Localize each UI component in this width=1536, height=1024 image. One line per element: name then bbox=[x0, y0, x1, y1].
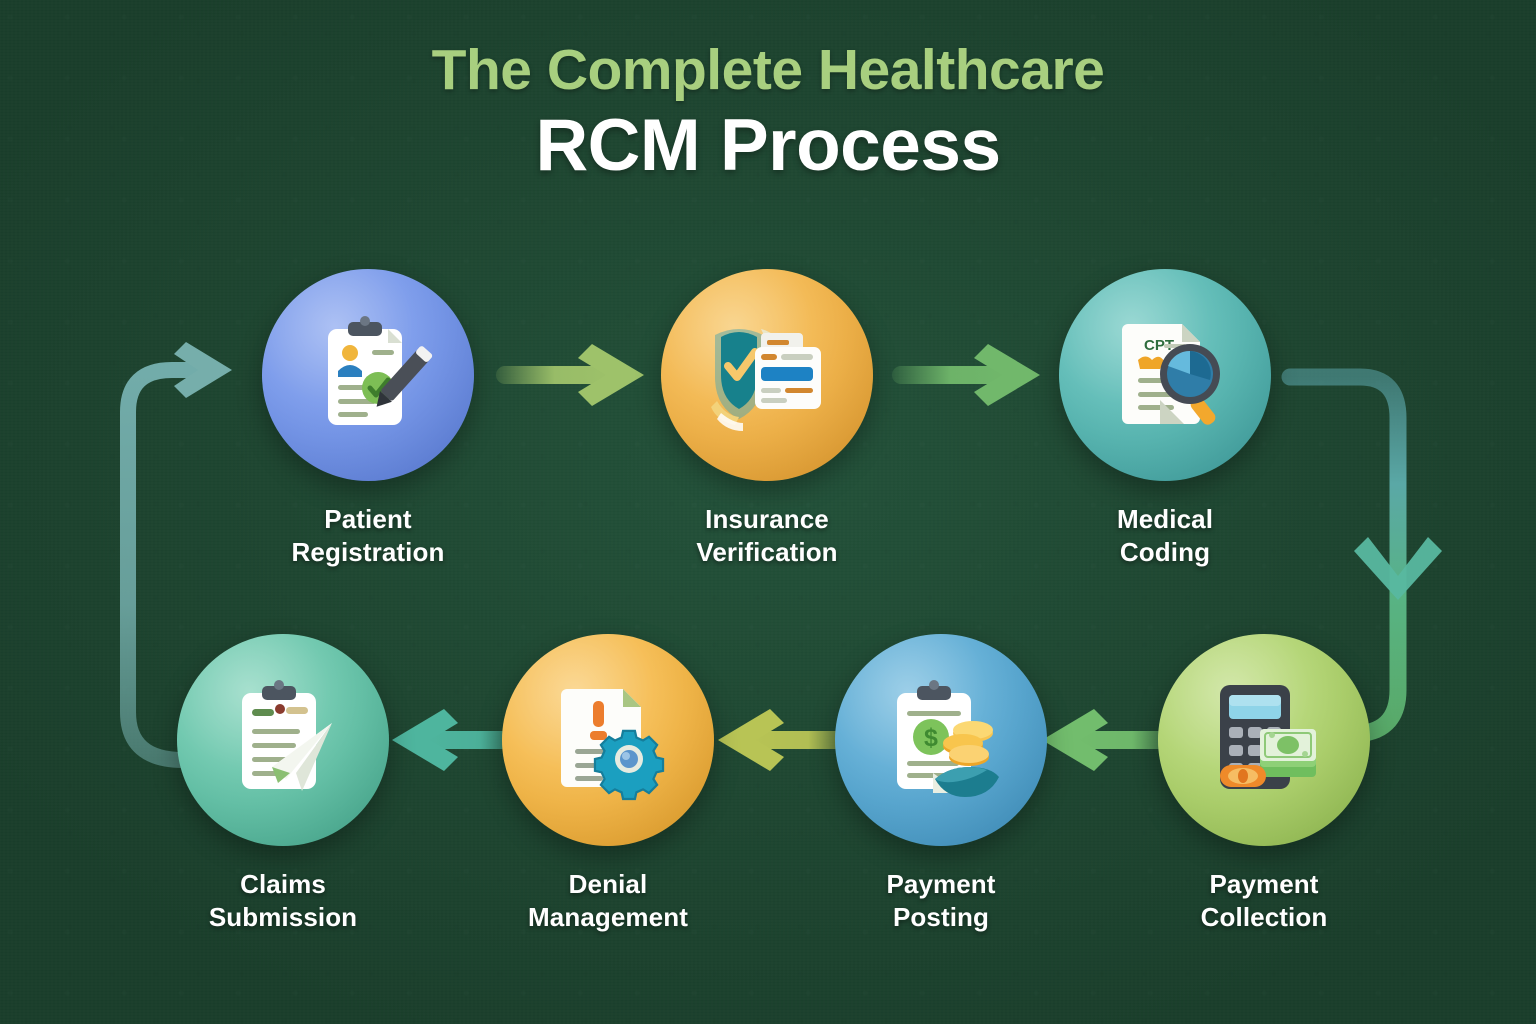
step-label: Payment Collection bbox=[1158, 868, 1370, 934]
step-node-medical-coding[interactable]: CPT Medical Coding bbox=[1059, 269, 1271, 569]
step-circle bbox=[661, 269, 873, 481]
clipboard-person-pencil-icon bbox=[302, 309, 434, 441]
step-circle: CPT bbox=[1059, 269, 1271, 481]
step-node-patient-registration[interactable]: Patient Registration bbox=[262, 269, 474, 569]
shield-check-card-icon bbox=[699, 309, 835, 441]
step-node-payment-posting[interactable]: $ Payment Posting bbox=[835, 634, 1047, 934]
step-node-payment-collection[interactable]: Payment Collection bbox=[1158, 634, 1370, 934]
step-node-denial-management[interactable]: Denial Management bbox=[502, 634, 714, 934]
calculator-cash-icon bbox=[1196, 673, 1332, 807]
step-label: Denial Management bbox=[502, 868, 714, 934]
svg-text:$: $ bbox=[924, 724, 938, 752]
step-circle bbox=[262, 269, 474, 481]
document-alert-gear-icon bbox=[541, 673, 675, 807]
connector-arrow-1-to-2 bbox=[496, 344, 644, 406]
step-label: Patient Registration bbox=[262, 503, 474, 569]
step-label: Payment Posting bbox=[835, 868, 1047, 934]
step-node-insurance-verification[interactable]: Insurance Verification bbox=[661, 269, 873, 569]
step-circle bbox=[177, 634, 389, 846]
step-circle bbox=[502, 634, 714, 846]
step-label: Insurance Verification bbox=[661, 503, 873, 569]
step-node-claims-submission[interactable]: Claims Submission bbox=[177, 634, 389, 934]
clipboard-paper-plane-icon bbox=[216, 673, 350, 807]
step-label: Claims Submission bbox=[177, 868, 389, 934]
connector-arrow-2-to-3 bbox=[892, 344, 1040, 406]
step-label: Medical Coding bbox=[1059, 503, 1271, 569]
document-magnifier-icon: CPT bbox=[1098, 308, 1232, 442]
infographic-canvas: The Complete Healthcare RCM Process bbox=[0, 0, 1536, 1024]
step-circle: $ bbox=[835, 634, 1047, 846]
step-circle bbox=[1158, 634, 1370, 846]
clipboard-dollar-coins-icon: $ bbox=[873, 673, 1009, 807]
